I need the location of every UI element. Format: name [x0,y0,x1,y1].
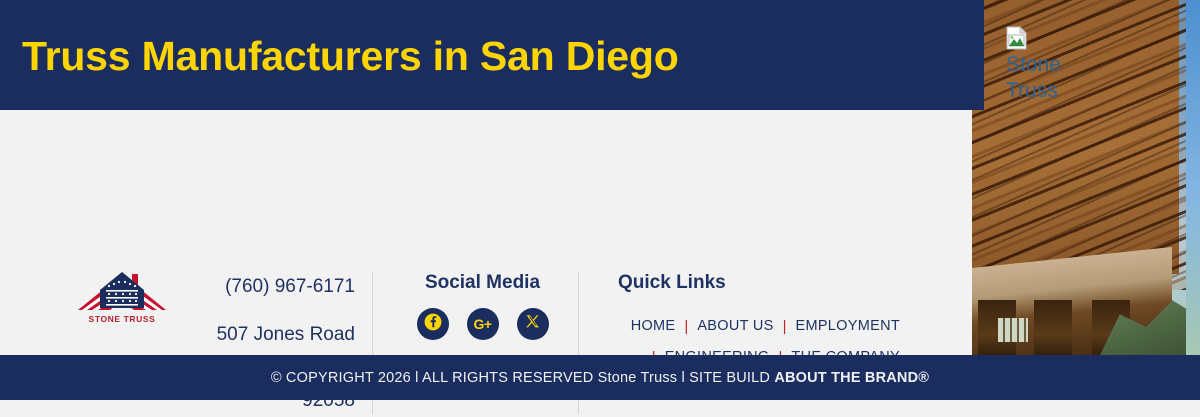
address-line-1: 507 Jones Road [190,318,355,351]
photo-rafter-shadows [972,0,1200,280]
logo-caption: STONE TRUSS [76,314,168,324]
google-plus-icon: G+ [473,317,491,331]
copyright-bar: © COPYRIGHT 2026 l ALL RIGHTS RESERVED S… [0,355,1200,400]
quick-links-title: Quick Links [618,272,918,294]
copyright-text: © COPYRIGHT 2026 l ALL RIGHTS RESERVED S… [271,370,929,386]
quick-link-about-us[interactable]: ABOUT US [697,311,773,342]
facebook-icon [424,313,442,336]
truss-photo [972,0,1200,355]
header-band: Truss Manufacturers in San Diego [0,0,972,110]
social-link-googleplus[interactable]: G+ [467,308,499,340]
phone-number[interactable]: (760) 967-6171 [190,270,355,303]
copyright-prefix: © COPYRIGHT 2026 l ALL RIGHTS RESERVED S… [271,370,775,386]
x-twitter-icon [525,314,541,335]
footer-main: STONE TRUSS (760) 967-6171 507 Jones Roa… [0,110,972,355]
photo-window [998,318,1028,342]
photo-navy-edge-strip [972,0,984,110]
photo-right-sky-edge [1186,0,1200,355]
page-title: Truss Manufacturers in San Diego [22,33,679,80]
brand-logo[interactable]: STONE TRUSS [76,270,168,322]
quick-link-home[interactable]: HOME [631,311,676,342]
social-media-title: Social Media [395,272,570,294]
social-link-x[interactable] [517,308,549,340]
copyright-brand-link[interactable]: ABOUT THE BRAND® [774,370,929,386]
social-icon-row: G+ [395,308,570,340]
quick-link-employment[interactable]: EMPLOYMENT [795,311,900,342]
link-separator: | [675,311,697,342]
photo-opening [1034,300,1072,355]
social-link-facebook[interactable] [417,308,449,340]
social-media-section: Social Media G+ [395,272,570,340]
link-separator: | [774,311,796,342]
footer-page: Truss Manufacturers in San Diego Stone T… [0,0,1200,400]
